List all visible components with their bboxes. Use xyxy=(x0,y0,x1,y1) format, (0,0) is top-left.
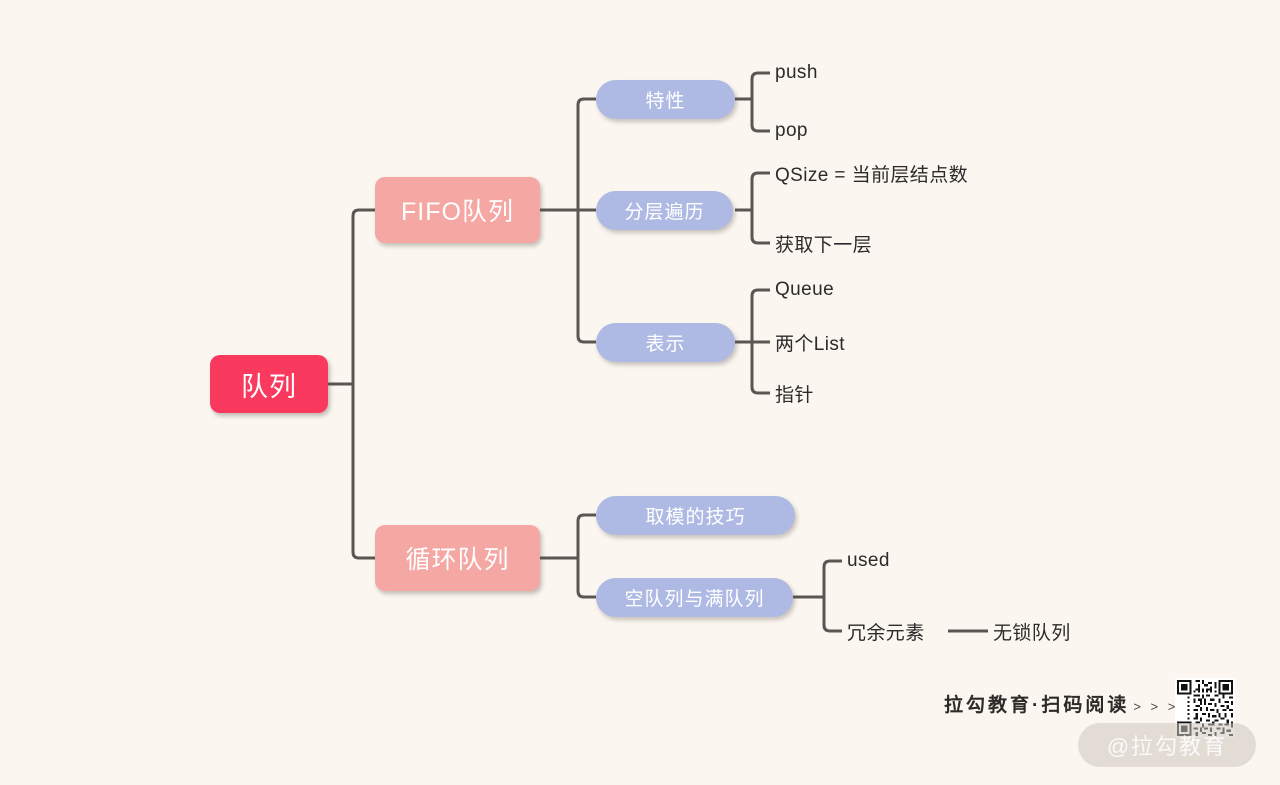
leaf-pointer[interactable]: 指针 xyxy=(775,381,814,405)
leaf-pointer-label: 指针 xyxy=(775,380,814,407)
leaf-qsize[interactable]: QSize = 当前层结点数 xyxy=(775,161,968,185)
node-empty-full-queue-label: 空队列与满队列 xyxy=(624,584,764,611)
watermark-badge: @拉勾教育 xyxy=(1078,723,1256,767)
leaf-queue-label: Queue xyxy=(775,279,834,301)
node-empty-full-queue[interactable]: 空队列与满队列 xyxy=(596,578,793,617)
node-circular-queue[interactable]: 循环队列 xyxy=(375,525,540,591)
footer-brand: 拉勾教育·扫码阅读 > > > xyxy=(944,690,1178,717)
leaf-used-label: used xyxy=(847,550,890,572)
node-feature[interactable]: 特性 xyxy=(596,80,735,119)
mindmap-canvas: 队列 FIFO队列 循环队列 特性 分层遍历 表示 取模的技巧 空队列与满队列 … xyxy=(0,0,1280,785)
leaf-pop[interactable]: pop xyxy=(775,119,808,143)
connector-traverse-vertical xyxy=(752,173,758,243)
leaf-push-label: push xyxy=(775,62,818,84)
node-root-queue[interactable]: 队列 xyxy=(210,355,328,413)
node-modulo-trick-label: 取模的技巧 xyxy=(645,502,745,529)
leaf-lockfree-queue[interactable]: 无锁队列 xyxy=(993,619,1071,643)
connector-circular-vertical xyxy=(578,515,584,597)
footer-chevrons: > > > xyxy=(1133,699,1178,714)
leaf-next-level[interactable]: 获取下一层 xyxy=(775,231,872,255)
leaf-redundant-element-label: 冗余元素 xyxy=(847,618,925,645)
leaf-two-list-label: 两个List xyxy=(775,329,845,356)
connector-feature-vertical xyxy=(752,73,758,131)
node-level-traverse[interactable]: 分层遍历 xyxy=(596,191,733,230)
node-circular-queue-label: 循环队列 xyxy=(405,540,509,576)
connector-fifo-vertical xyxy=(578,99,584,342)
leaf-redundant-element[interactable]: 冗余元素 xyxy=(847,619,925,643)
footer-brand-label: 拉勾教育·扫码阅读 xyxy=(944,690,1129,717)
node-represent-label: 表示 xyxy=(645,329,685,356)
node-level-traverse-label: 分层遍历 xyxy=(624,197,704,224)
node-fifo-queue-label: FIFO队列 xyxy=(401,192,514,228)
leaf-two-list[interactable]: 两个List xyxy=(775,330,845,354)
leaf-queue[interactable]: Queue xyxy=(775,278,834,302)
node-root-queue-label: 队列 xyxy=(241,365,297,404)
connector-trunk-vertical xyxy=(353,210,359,558)
connector-represent-vertical xyxy=(752,290,758,393)
node-fifo-queue[interactable]: FIFO队列 xyxy=(375,177,540,243)
node-represent[interactable]: 表示 xyxy=(596,323,735,362)
leaf-pop-label: pop xyxy=(775,120,808,142)
node-modulo-trick[interactable]: 取模的技巧 xyxy=(596,496,795,535)
leaf-used[interactable]: used xyxy=(847,549,890,573)
leaf-lockfree-queue-label: 无锁队列 xyxy=(993,618,1071,645)
leaf-push[interactable]: push xyxy=(775,61,818,85)
leaf-next-level-label: 获取下一层 xyxy=(775,230,872,257)
watermark-label: @拉勾教育 xyxy=(1107,729,1227,761)
node-feature-label: 特性 xyxy=(645,86,685,113)
connector-emptyfull-vertical xyxy=(824,561,830,631)
leaf-qsize-label: QSize = 当前层结点数 xyxy=(775,160,968,187)
